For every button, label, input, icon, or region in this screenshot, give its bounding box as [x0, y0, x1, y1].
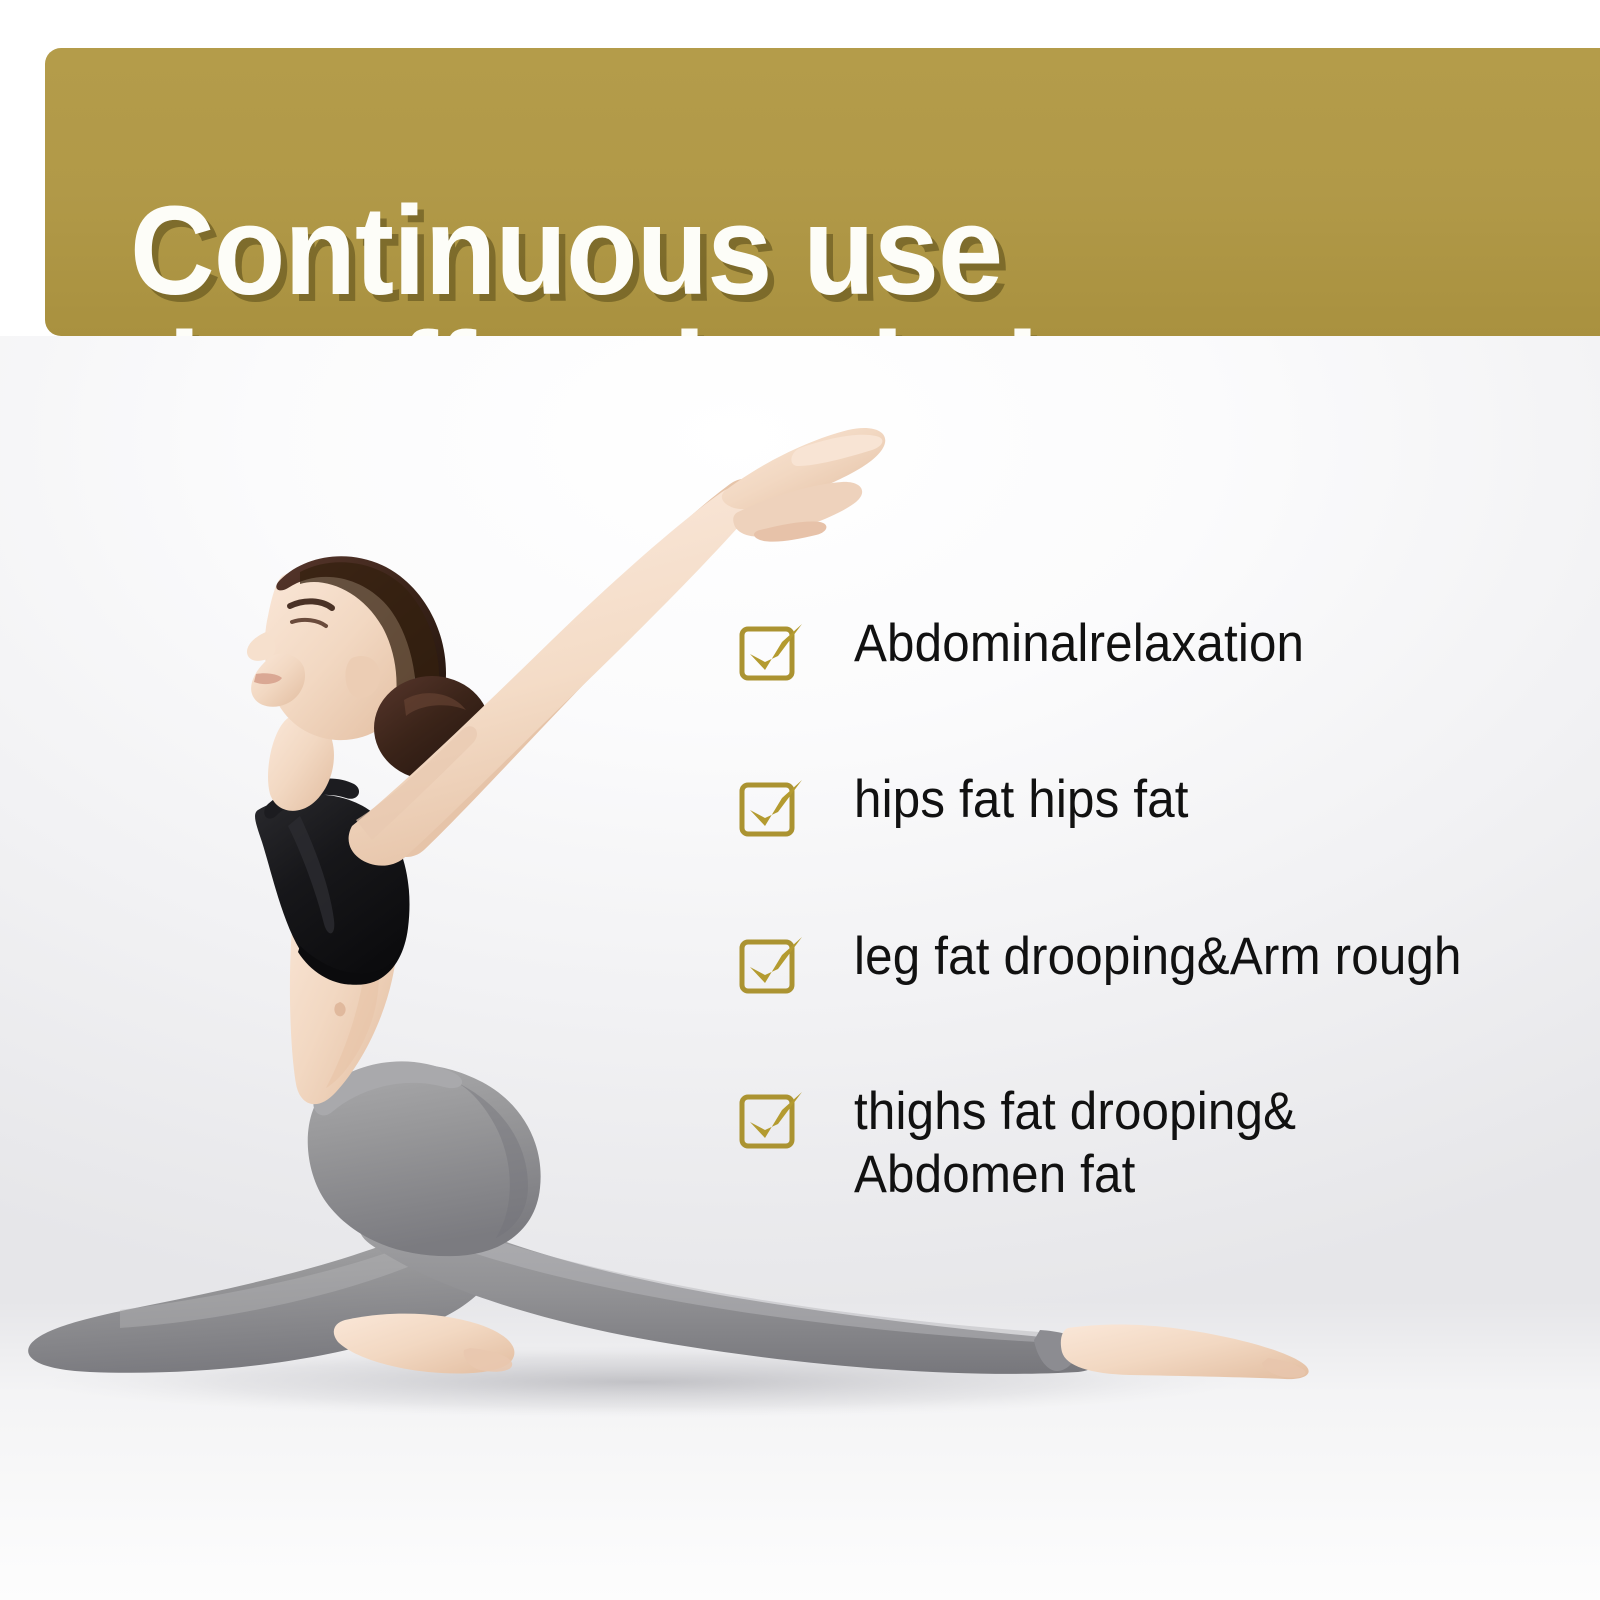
checklist-item-label: leg fat drooping&Arm rough — [854, 925, 1462, 988]
headline-line-2: the effect is obvious — [130, 314, 1488, 336]
promo-graphic: Continuous use the effect is obvious Abd… — [0, 0, 1600, 1600]
headline-banner: Continuous use the effect is obvious — [45, 48, 1600, 336]
checklist-item: Abdominalrelaxation — [738, 612, 1338, 682]
checklist-item-label: hips fat hips fat — [854, 768, 1189, 831]
checked-checkbox-icon — [738, 931, 806, 995]
checklist-item: thighs fat drooping& Abdomen fat — [738, 1080, 1329, 1206]
studio-floor — [0, 1300, 1600, 1600]
checklist-item: leg fat drooping&Arm rough — [738, 925, 1507, 995]
checked-checkbox-icon — [738, 774, 806, 838]
checked-checkbox-icon — [738, 618, 806, 682]
headline-line-1: Continuous use — [130, 180, 1002, 321]
checklist-item-label: Abdominalrelaxation — [854, 612, 1304, 675]
checklist-item: hips fat hips fat — [738, 768, 1214, 838]
checklist-item-label: thighs fat drooping& Abdomen fat — [854, 1080, 1296, 1206]
headline-text: Continuous use the effect is obvious — [130, 48, 1488, 336]
checked-checkbox-icon — [738, 1086, 806, 1150]
